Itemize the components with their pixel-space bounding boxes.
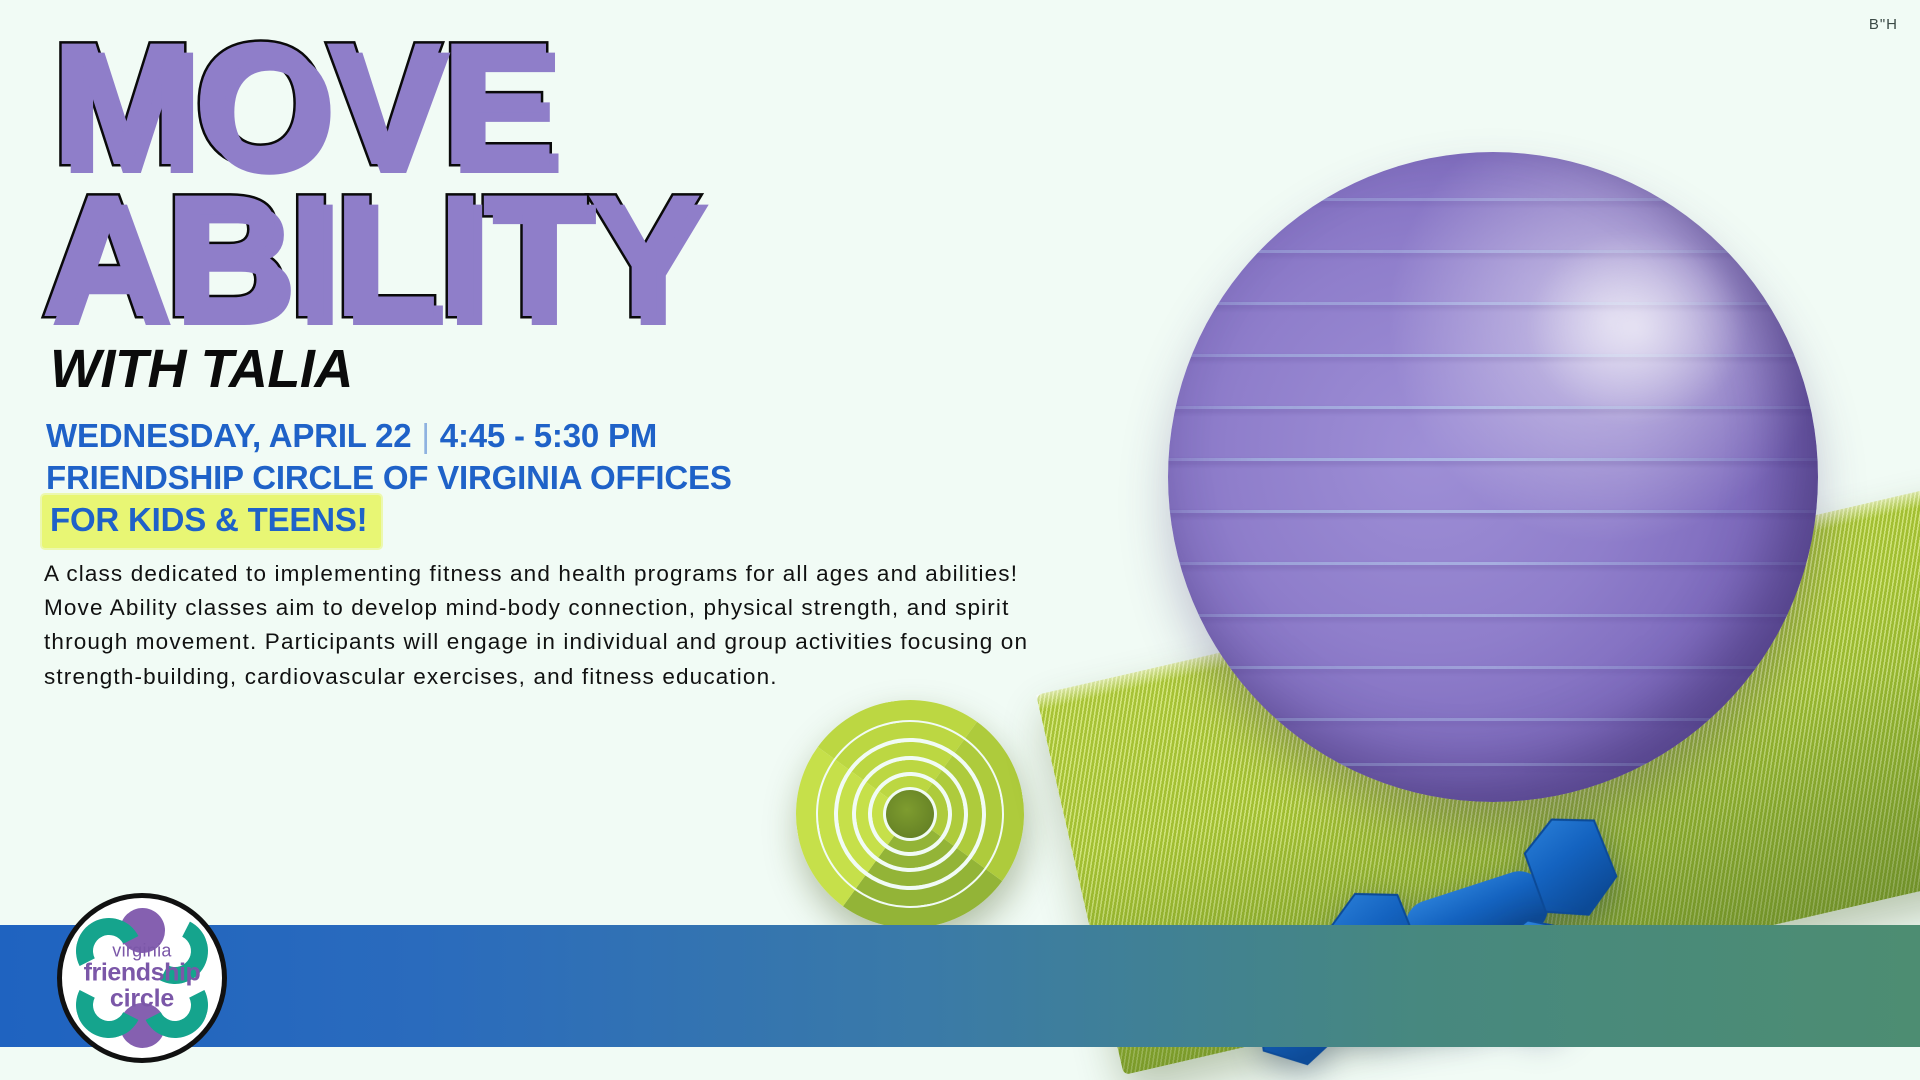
detail-separator: | — [411, 417, 439, 454]
logo-line-1: virginia — [62, 942, 222, 960]
friendship-circle-logo: virginia friendship circle — [57, 893, 227, 1063]
logo-line-3: circle — [62, 987, 222, 1012]
exercise-ball-image — [1168, 152, 1818, 802]
event-time: 4:45 - 5:30 PM — [440, 417, 657, 454]
event-details: WEDNESDAY, APRIL 22|4:45 - 5:30 PM FRIEN… — [46, 415, 732, 542]
event-audience-line: FOR KIDS & TEENS! — [46, 499, 732, 541]
title-line-2: ABILITY — [40, 174, 700, 340]
title-subtitle: WITH TALIA — [50, 338, 353, 400]
event-location: FRIENDSHIP CIRCLE OF VIRGINIA OFFICES — [46, 459, 732, 496]
yoga-mat-roll-image — [780, 684, 1041, 945]
event-datetime-line: WEDNESDAY, APRIL 22|4:45 - 5:30 PM — [46, 415, 732, 457]
rsvp-band: RSVP: friendshipcircleva.org/moveability — [0, 925, 1920, 1047]
blessing-mark: B"H — [1869, 16, 1898, 33]
exercise-ball-ridges — [1168, 152, 1818, 802]
event-audience: FOR KIDS & TEENS! — [50, 501, 367, 538]
logo-wordmark: virginia friendship circle — [62, 942, 222, 1012]
description-paragraph: A class dedicated to implementing fitnes… — [44, 557, 1064, 694]
flyer-canvas: RSVP: friendshipcircleva.org/moveability… — [0, 0, 1920, 1080]
exercise-ball-highlight — [1526, 230, 1747, 425]
audience-highlight-wrapper: FOR KIDS & TEENS! — [50, 499, 367, 541]
event-location-line: FRIENDSHIP CIRCLE OF VIRGINIA OFFICES — [46, 457, 732, 499]
title-block: MOVE ABILITY — [44, 22, 700, 341]
logo-line-2: friendship — [62, 961, 222, 986]
event-date: WEDNESDAY, APRIL 22 — [46, 417, 411, 454]
